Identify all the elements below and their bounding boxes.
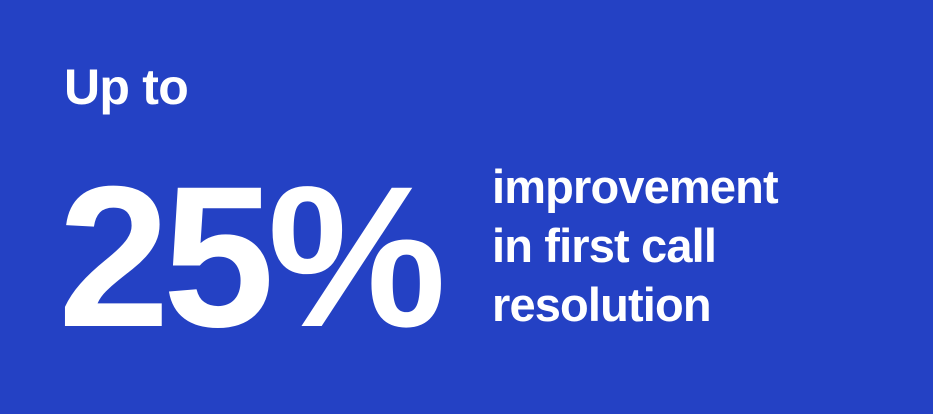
stat-description-group: improvement in first call resolution bbox=[492, 157, 892, 334]
description-line-2: in first call bbox=[492, 216, 892, 275]
description-line-3: resolution bbox=[492, 275, 892, 334]
stat-value-group: Up to 25% bbox=[62, 62, 462, 357]
stat-callout-card: Up to 25% improvement in first call reso… bbox=[0, 0, 933, 414]
description-line-1: improvement bbox=[492, 157, 892, 216]
stat-value-figure: 25% bbox=[58, 156, 462, 357]
stat-eyebrow-label: Up to bbox=[64, 62, 462, 112]
